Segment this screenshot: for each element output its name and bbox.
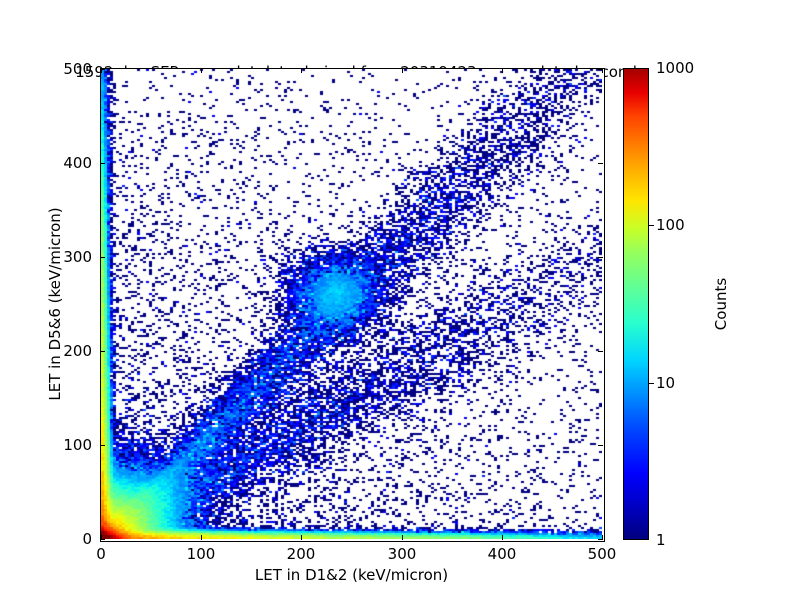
x-tick-300 <box>402 535 403 540</box>
y-tick-label-0: 0 <box>20 530 92 548</box>
y-tick-0 <box>100 539 105 540</box>
colorbar-tick-100 <box>649 225 654 226</box>
x-tick-200 <box>301 535 302 540</box>
y-tick-right-300 <box>598 257 603 258</box>
x-tick-label-300: 300 <box>388 545 417 563</box>
y-tick-100 <box>100 445 105 446</box>
colorbar-tick-label-1: 1 <box>656 531 666 549</box>
scatter-plot-area <box>100 68 605 542</box>
y-tick-right-400 <box>598 163 603 164</box>
y-tick-200 <box>100 351 105 352</box>
colorbar: 1101001000 <box>623 68 649 540</box>
y-tick-right-500 <box>598 69 603 70</box>
y-tick-right-0 <box>598 539 603 540</box>
colorbar-tick-label-1000: 1000 <box>656 59 694 77</box>
x-tick-100 <box>201 535 202 540</box>
y-tick-500 <box>100 69 105 70</box>
x-tick-label-500: 500 <box>588 545 617 563</box>
y-tick-label-500: 500 <box>20 60 92 78</box>
colorbar-tick-label-10: 10 <box>656 374 675 392</box>
colorbar-gradient <box>623 68 649 540</box>
x-tick-label-0: 0 <box>96 545 106 563</box>
y-tick-right-100 <box>598 445 603 446</box>
x-tick-top-200 <box>301 68 302 73</box>
x-tick-400 <box>502 535 503 540</box>
x-tick-top-400 <box>502 68 503 73</box>
x-tick-top-300 <box>402 68 403 73</box>
colorbar-tick-10 <box>649 383 654 384</box>
x-tick-label-400: 400 <box>488 545 517 563</box>
x-tick-label-100: 100 <box>187 545 216 563</box>
x-tick-label-200: 200 <box>287 545 316 563</box>
y-tick-300 <box>100 257 105 258</box>
colorbar-tick-label-100: 100 <box>656 216 685 234</box>
y-tick-400 <box>100 163 105 164</box>
y-axis-label: LET in D5&6 (keV/micron) <box>46 154 64 454</box>
scatter-density-canvas <box>101 69 602 539</box>
x-tick-top-100 <box>201 68 202 73</box>
x-axis-label: LET in D1&2 (keV/micron) <box>100 566 603 584</box>
y-tick-right-200 <box>598 351 603 352</box>
colorbar-label: Counts <box>712 154 730 454</box>
